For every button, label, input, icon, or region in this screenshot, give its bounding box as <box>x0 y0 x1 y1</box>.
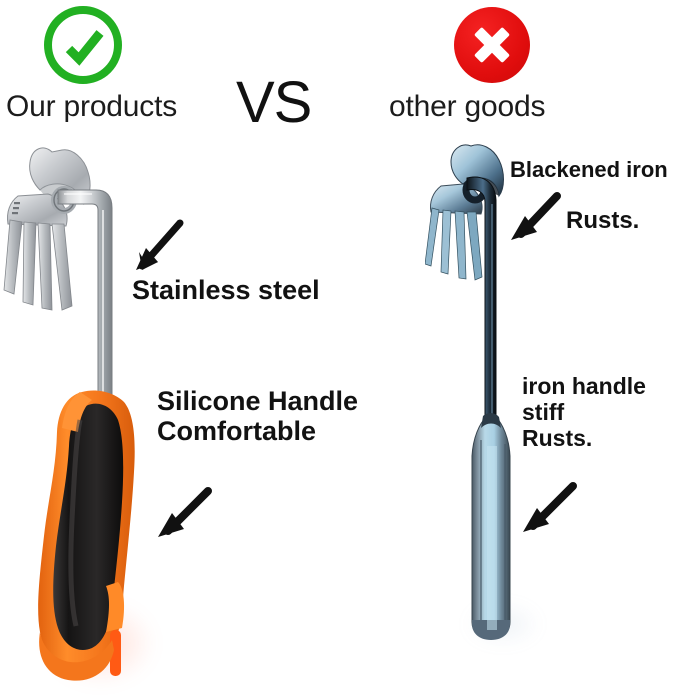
arrow-down-left-silicone-icon <box>150 485 214 541</box>
left-column-heading: Our products <box>6 90 177 124</box>
weeder-silicone-handle <box>38 390 135 680</box>
check-mark-icon <box>62 26 106 70</box>
arrow-down-left-rusts-icon <box>505 192 563 244</box>
weeder-claw-head <box>4 148 90 310</box>
annotation-stainless-steel: Stainless steel <box>132 275 320 305</box>
comparison-infographic: Our products VS other goods <box>0 0 679 699</box>
iron-handle <box>472 413 510 640</box>
vs-label: VS <box>236 74 311 132</box>
annotation-iron-handle-stiff: iron handle stiff Rusts. <box>522 374 646 451</box>
annotation-rusts: Rusts. <box>566 208 639 235</box>
annotation-blackened-iron: Blackened iron <box>510 158 668 183</box>
arrow-down-left-stainless-icon <box>128 218 188 274</box>
annotation-silicone-handle: Silicone Handle Comfortable <box>157 386 358 446</box>
arrow-down-left-iron-handle-icon <box>515 480 579 538</box>
right-column-heading: other goods <box>389 90 545 124</box>
red-x-circle-icon <box>454 7 530 83</box>
